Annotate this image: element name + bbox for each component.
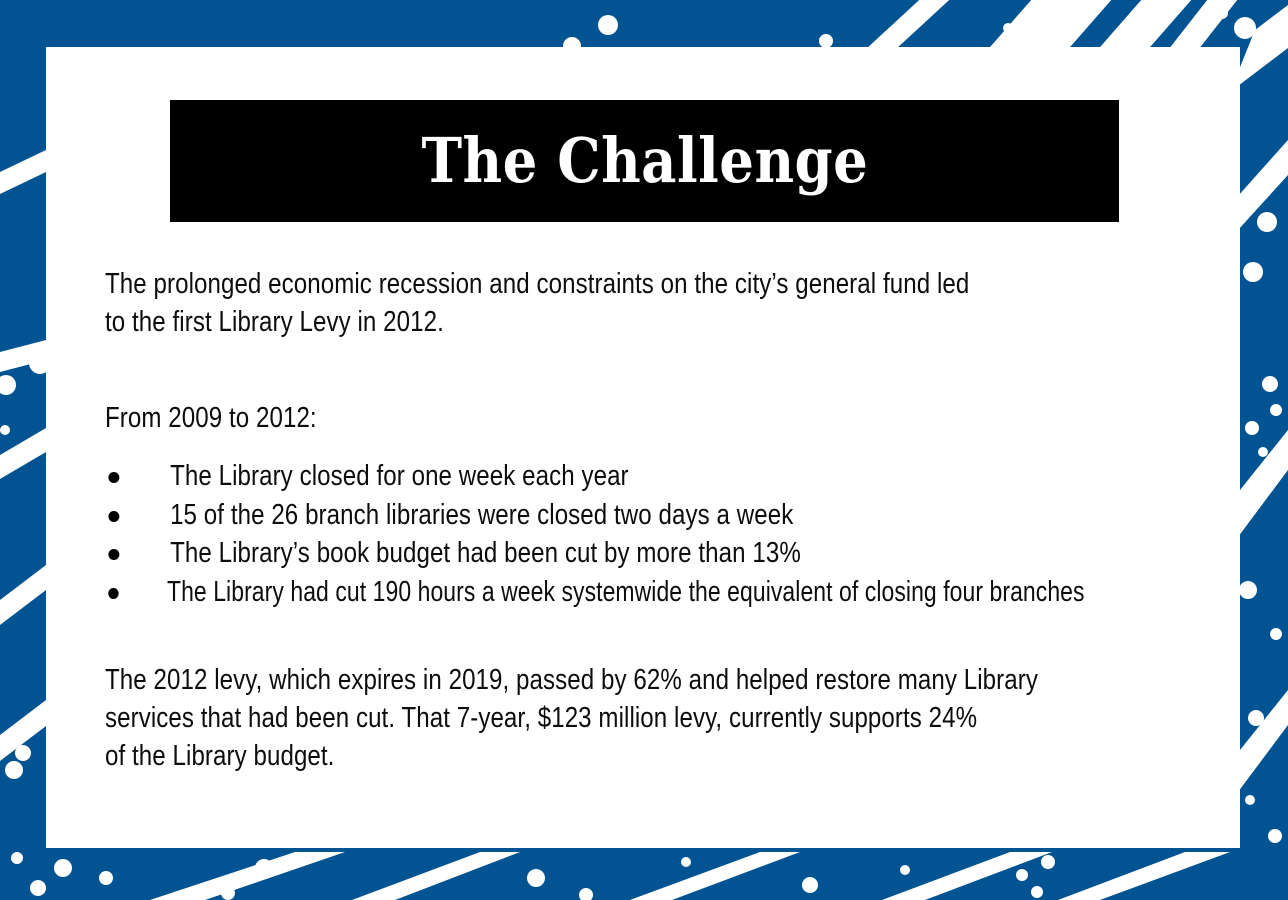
bullet-icon [108, 549, 119, 560]
title-banner: The Challenge [170, 100, 1119, 222]
bullet-icon [108, 511, 119, 522]
spacer [105, 341, 1225, 399]
period-heading: From 2009 to 2012: [105, 399, 1225, 437]
bullet-icon [108, 588, 118, 599]
list-item: The Library’s book budget had been cut b… [105, 534, 1288, 573]
list-item-label: The Library had cut 190 hours a week sys… [167, 576, 1085, 608]
bullet-icon [108, 472, 119, 483]
list-item-label: The Library closed for one week each yea… [170, 460, 629, 492]
list-item: 15 of the 26 branch libraries were close… [105, 496, 1288, 535]
list-item-label: 15 of the 26 branch libraries were close… [170, 499, 793, 531]
spacer [105, 611, 1225, 661]
slide-root: The Challenge The prolonged economic rec… [0, 0, 1288, 900]
challenge-bullet-list: The Library closed for one week each yea… [105, 457, 1225, 611]
intro-paragraph: The prolonged economic recession and con… [105, 265, 1225, 341]
list-item-label: The Library’s book budget had been cut b… [170, 537, 801, 569]
body-content: The prolonged economic recession and con… [105, 265, 1225, 775]
spacer [105, 437, 1225, 457]
closing-paragraph: The 2012 levy, which expires in 2019, pa… [105, 661, 1225, 775]
list-item: The Library had cut 190 hours a week sys… [105, 573, 1286, 612]
page-title: The Challenge [421, 130, 868, 192]
content-card: The Challenge The prolonged economic rec… [46, 47, 1240, 848]
list-item: The Library closed for one week each yea… [105, 457, 1288, 496]
